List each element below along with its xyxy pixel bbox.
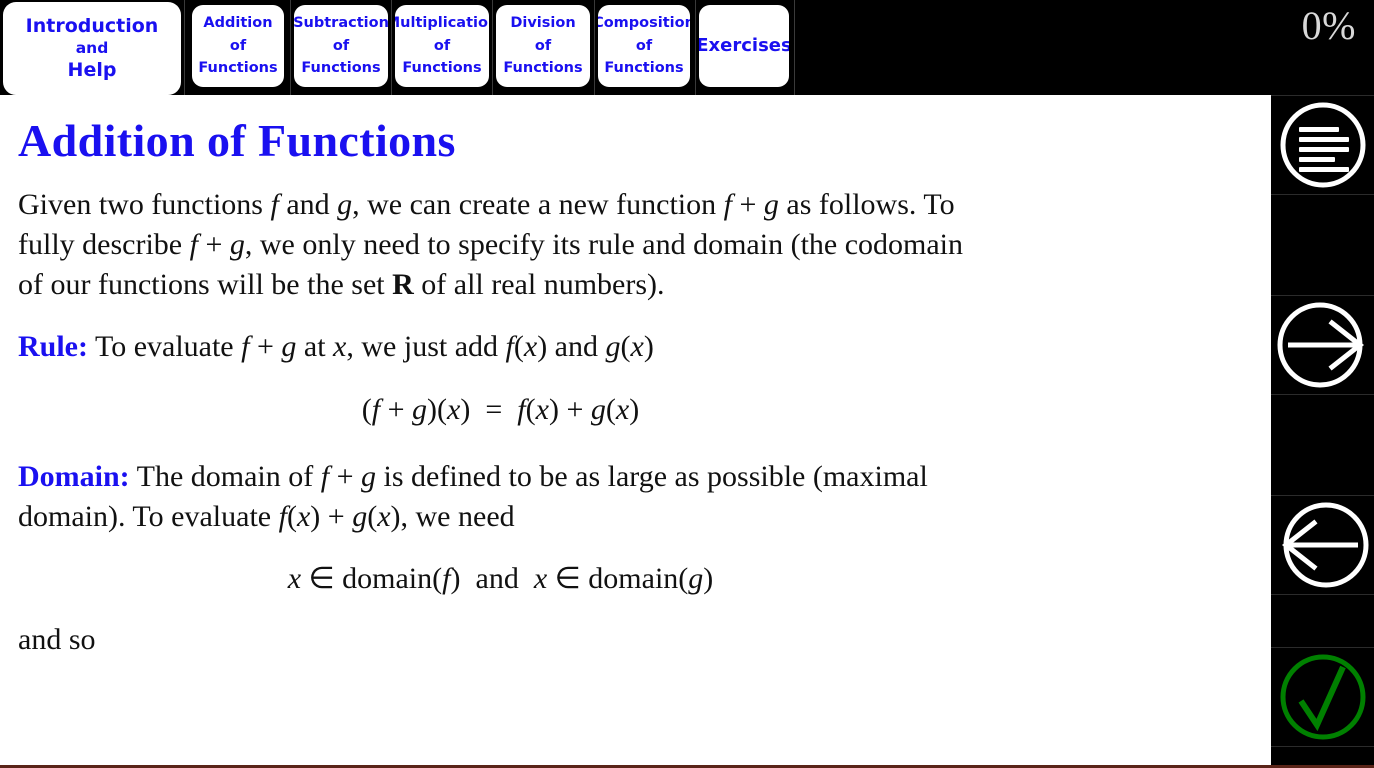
- tab-label-line: Functions: [198, 57, 277, 79]
- domain-text: The domain of f + g is defined to be as …: [18, 460, 928, 533]
- tab-label-line: Multiplication: [395, 12, 489, 34]
- tab-separator: [391, 0, 392, 95]
- tab-bar: Introduction and Help Addition of Functi…: [0, 0, 1374, 95]
- tab-separator: [492, 0, 493, 95]
- tab-label-line: Functions: [301, 57, 380, 79]
- tab-label-line: Functions: [503, 57, 582, 79]
- domain-paragraph: Domain: The domain of f + g is defined t…: [18, 457, 983, 537]
- tab-label-line: Addition: [203, 12, 272, 34]
- menu-lines-icon: [1275, 97, 1371, 193]
- tab-label-line: Help: [68, 58, 117, 82]
- tab-label-line: Functions: [402, 57, 481, 79]
- equation-rule: (f + g)(x) = f(x) + g(x): [18, 393, 983, 427]
- tab-label-line: of: [230, 35, 246, 57]
- application-window: Introduction and Help Addition of Functi…: [0, 0, 1374, 768]
- tab-exercises[interactable]: Exercises: [699, 5, 789, 87]
- tab-label-line: of: [434, 35, 450, 57]
- page-title: Addition of Functions: [18, 117, 1247, 165]
- rule-label: Rule:: [18, 330, 88, 363]
- tab-label-line: of: [535, 35, 551, 57]
- tab-label-line: Functions: [604, 57, 683, 79]
- tab-label-line: Subtraction: [294, 12, 388, 34]
- lesson-content-pane: Addition of Functions Given two function…: [0, 95, 1271, 765]
- tab-separator: [794, 0, 795, 95]
- sidebar-spacer: [1271, 195, 1374, 295]
- rule-paragraph: Rule: To evaluate f + g at x, we just ad…: [18, 327, 983, 367]
- sidebar-button-previous[interactable]: [1271, 495, 1374, 595]
- sidebar-button-next[interactable]: [1271, 295, 1374, 395]
- tab-separator: [695, 0, 696, 95]
- tab-label-line: of: [333, 35, 349, 57]
- trailing-paragraph: and so: [18, 620, 983, 660]
- tab-introduction-and-help[interactable]: Introduction and Help: [3, 2, 181, 95]
- arrow-left-icon: [1272, 497, 1374, 593]
- sidebar-button-check-answer[interactable]: [1271, 647, 1374, 747]
- tab-label-line: of: [636, 35, 652, 57]
- tab-label-line: Division: [510, 12, 575, 34]
- tab-subtraction-of-functions[interactable]: Subtraction of Functions: [294, 5, 388, 87]
- equation-domain: x ∈ domain(f) and x ∈ domain(g): [18, 561, 983, 596]
- tool-sidebar: [1271, 95, 1374, 765]
- tab-composition-of-functions[interactable]: Composition of Functions: [598, 5, 690, 87]
- tab-label-line: Exercises: [699, 35, 789, 57]
- tab-multiplication-of-functions[interactable]: Multiplication of Functions: [395, 5, 489, 87]
- tab-label-line: Composition: [598, 12, 690, 34]
- tab-separator: [184, 0, 185, 95]
- sidebar-button-menu[interactable]: [1271, 95, 1374, 195]
- tab-division-of-functions[interactable]: Division of Functions: [496, 5, 590, 87]
- progress-percent: 0%: [1302, 6, 1356, 46]
- domain-label: Domain:: [18, 460, 130, 493]
- sidebar-spacer: [1271, 395, 1374, 495]
- rule-text: To evaluate f + g at x, we just add f(x)…: [88, 330, 654, 363]
- sidebar-spacer: [1271, 595, 1374, 647]
- intro-paragraph: Given two functions f and g, we can crea…: [18, 185, 983, 305]
- tab-label-line: and: [76, 39, 109, 59]
- tab-separator: [594, 0, 595, 95]
- tab-separator: [290, 0, 291, 95]
- arrow-right-icon: [1272, 297, 1374, 393]
- check-circle-icon: [1275, 649, 1371, 745]
- tab-label-line: Introduction: [26, 14, 159, 38]
- tab-addition-of-functions[interactable]: Addition of Functions: [192, 5, 284, 87]
